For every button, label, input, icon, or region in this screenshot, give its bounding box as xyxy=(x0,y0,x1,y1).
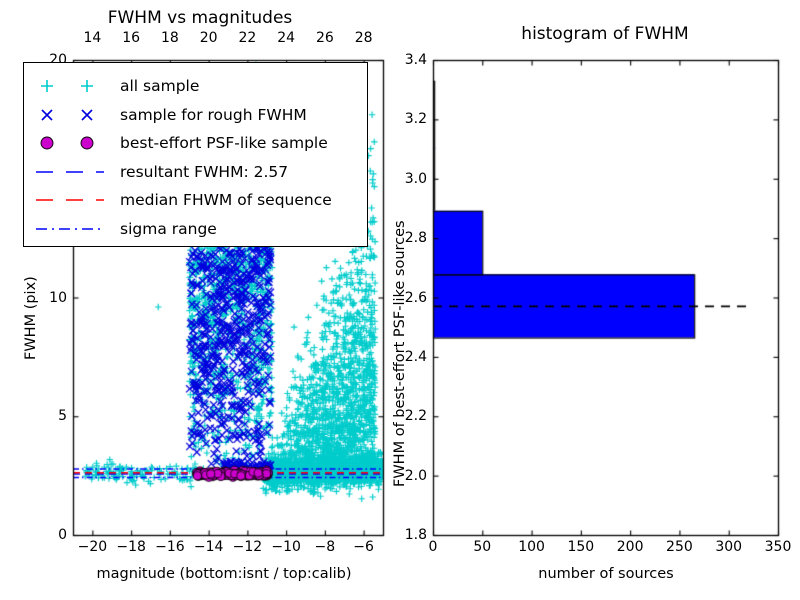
tick-label: 26 xyxy=(316,31,334,45)
tick-label: 28 xyxy=(355,31,373,45)
tick-label: 5 xyxy=(58,409,67,423)
tick-label: −6 xyxy=(353,540,374,554)
tick-label: −10 xyxy=(271,540,301,554)
dashed-line-icon xyxy=(30,186,116,214)
tick-label: 2.6 xyxy=(405,291,427,305)
legend-item[interactable]: median FHWM of sequence xyxy=(24,186,367,214)
dashed-line-icon xyxy=(30,158,116,186)
tick-label: 16 xyxy=(122,31,140,45)
legend-item-label: sample for rough FWHM xyxy=(120,106,307,124)
tick-label: 200 xyxy=(617,540,644,554)
tick-label: 250 xyxy=(666,540,693,554)
tick-label: 10 xyxy=(49,291,67,305)
tick-label: −14 xyxy=(194,540,224,554)
tick-label: 20 xyxy=(200,31,218,45)
scatter-yaxis-label: FWHM (pix) xyxy=(24,276,39,360)
tick-label: 18 xyxy=(161,31,179,45)
scatter-xaxis-label: magnitude (bottom:isnt / top:calib) xyxy=(96,567,351,582)
histogram-title: histogram of FWHM xyxy=(521,26,688,43)
tick-label: 1.8 xyxy=(405,528,427,542)
histogram-xaxis-label: number of sources xyxy=(538,567,674,582)
dashdot-line-icon xyxy=(30,215,116,243)
tick-label: 2.4 xyxy=(405,350,427,364)
legend-item[interactable]: sigma range xyxy=(24,215,367,243)
scatter-plot-title: FWHM vs magnitudes xyxy=(108,10,293,27)
figure-canvas-wrapper: FWHM vs magnitudes magnitude (bottom:isn… xyxy=(0,0,800,600)
legend-item-label: median FHWM of sequence xyxy=(120,191,332,209)
plot-legend[interactable]: all samplesample for rough FWHMbest-effo… xyxy=(23,62,368,247)
tick-label: 150 xyxy=(567,540,594,554)
legend-item[interactable]: all sample xyxy=(24,72,367,100)
legend-item-label: sigma range xyxy=(120,220,217,238)
cross-icon xyxy=(30,101,116,129)
circle-icon xyxy=(30,129,116,157)
tick-label: 14 xyxy=(83,31,101,45)
tick-label: −16 xyxy=(155,540,185,554)
tick-label: 3.0 xyxy=(405,172,427,186)
tick-label: −12 xyxy=(233,540,263,554)
legend-item[interactable]: sample for rough FWHM xyxy=(24,101,367,129)
tick-label: 50 xyxy=(473,540,491,554)
tick-label: 0 xyxy=(429,540,438,554)
tick-label: 2.8 xyxy=(405,231,427,245)
tick-label: 350 xyxy=(765,540,792,554)
tick-label: −20 xyxy=(78,540,108,554)
tick-label: 300 xyxy=(715,540,742,554)
legend-item-label: resultant FWHM: 2.57 xyxy=(120,163,288,181)
tick-label: 24 xyxy=(277,31,295,45)
tick-label: −8 xyxy=(315,540,336,554)
legend-item[interactable]: resultant FWHM: 2.57 xyxy=(24,158,367,186)
tick-label: 3.2 xyxy=(405,112,427,126)
tick-label: −18 xyxy=(116,540,146,554)
legend-item-label: best-effort PSF-like sample xyxy=(120,134,328,152)
tick-label: 22 xyxy=(238,31,256,45)
tick-label: 3.4 xyxy=(405,53,427,67)
plus-icon xyxy=(30,72,116,100)
tick-label: 0 xyxy=(58,528,67,542)
tick-label: 2.2 xyxy=(405,409,427,423)
tick-label: 2.0 xyxy=(405,469,427,483)
legend-item[interactable]: best-effort PSF-like sample xyxy=(24,129,367,157)
legend-item-label: all sample xyxy=(120,77,199,95)
tick-label: 100 xyxy=(518,540,545,554)
